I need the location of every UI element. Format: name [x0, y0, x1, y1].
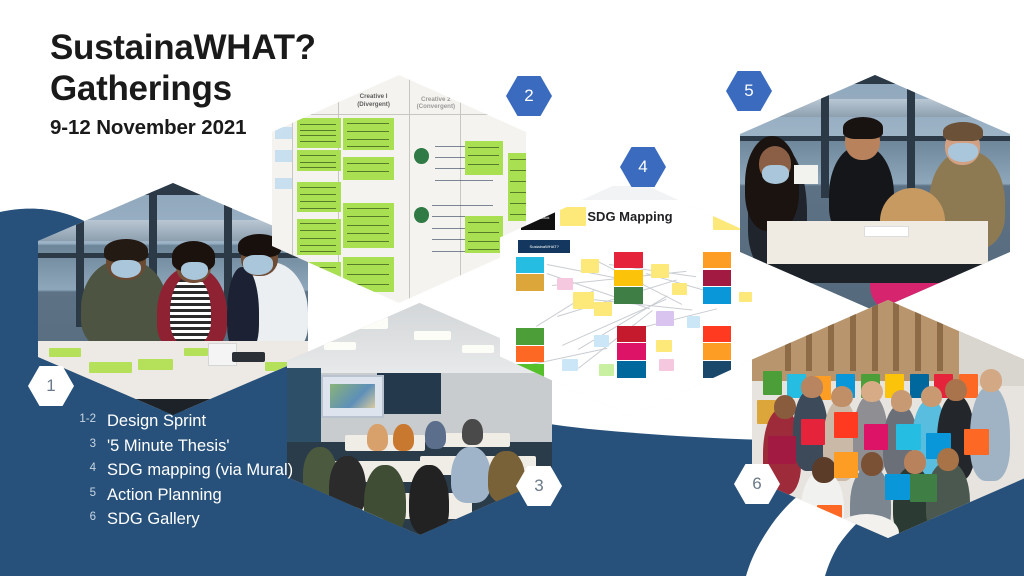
held-sdg-poster: [864, 424, 888, 450]
legend-item-label: Design Sprint: [107, 412, 206, 431]
sdg-card: [614, 252, 643, 269]
mural-sticky-note: [594, 335, 610, 347]
legend-item: 3 '5 Minute Thesis': [66, 437, 293, 462]
mural-sticky-note: [560, 207, 586, 226]
legend-item-label: Action Planning: [107, 486, 222, 505]
legend-item-label: '5 Minute Thesis': [107, 437, 229, 456]
mural-sticky-note: [687, 316, 700, 328]
legend-item: 5 Action Planning: [66, 486, 293, 511]
held-sdg-poster: [964, 429, 988, 455]
legend-list: 1-2 Design Sprint 3 '5 Minute Thesis' 4 …: [66, 412, 293, 535]
sdg-card: [703, 326, 732, 343]
legend-item-number: 4: [66, 462, 96, 474]
mural-sticky-note: [581, 259, 599, 273]
legend-item: 1-2 Design Sprint: [66, 412, 293, 437]
sdg-card: [703, 252, 732, 269]
mural-sticky-note: [739, 292, 752, 302]
held-sdg-poster: [834, 452, 858, 478]
sdg-card: [614, 287, 643, 304]
mural-sticky-note: [651, 264, 669, 278]
title-block: SustainaWHAT? Gatherings 9-12 November 2…: [50, 28, 316, 140]
held-sdg-poster: [834, 412, 858, 438]
legend-item-number: 3: [66, 438, 96, 450]
page-title-line-2: Gatherings: [50, 69, 316, 110]
mural-sticky-note: [594, 302, 612, 316]
sdg-card: [516, 346, 545, 363]
held-sdg-poster: [801, 419, 825, 445]
legend-item-label: SDG mapping (via Mural): [107, 461, 293, 480]
mural-sticky-note: [656, 340, 672, 352]
sdg-card: [703, 270, 732, 287]
sdg-card: [516, 257, 545, 274]
slide-root: SustainaWHAT? Gatherings 9-12 November 2…: [0, 0, 1024, 576]
mural-sticky-note: [659, 359, 675, 371]
mural-sticky-note: [562, 359, 578, 371]
mural-sticky-note: [599, 364, 615, 376]
legend-item-number: 5: [66, 487, 96, 499]
legend-item: 6 SDG Gallery: [66, 510, 293, 535]
held-sdg-poster: [768, 436, 795, 465]
legend-item-number: 6: [66, 511, 96, 523]
held-sdg-poster: [885, 474, 909, 500]
sdg-card: [617, 343, 646, 360]
legend-item-label: SDG Gallery: [107, 510, 200, 529]
title-date: 9-12 November 2021: [50, 116, 316, 140]
sdg-card: [516, 328, 545, 345]
mural-sticky-note: [557, 278, 573, 290]
sdg-card: [614, 270, 643, 287]
sdg-poster: [763, 371, 782, 395]
sdg-card: [516, 274, 545, 291]
held-sdg-poster: [910, 474, 937, 503]
mural-navy-card: SustainaWHAT?: [518, 240, 570, 253]
sdg-card: [617, 326, 646, 343]
held-sdg-poster: [896, 424, 920, 450]
mural-sticky-note: [656, 311, 674, 325]
legend-item: 4 SDG mapping (via Mural): [66, 461, 293, 486]
mural-sticky-note: [573, 292, 594, 309]
sdg-card: [617, 361, 646, 378]
sdg-card: [703, 287, 732, 304]
legend-item-number: 1-2: [66, 413, 96, 425]
sdg-card: [703, 343, 732, 360]
page-title-line-1: SustainaWHAT?: [50, 28, 316, 69]
mural-sticky-note: [672, 283, 688, 295]
